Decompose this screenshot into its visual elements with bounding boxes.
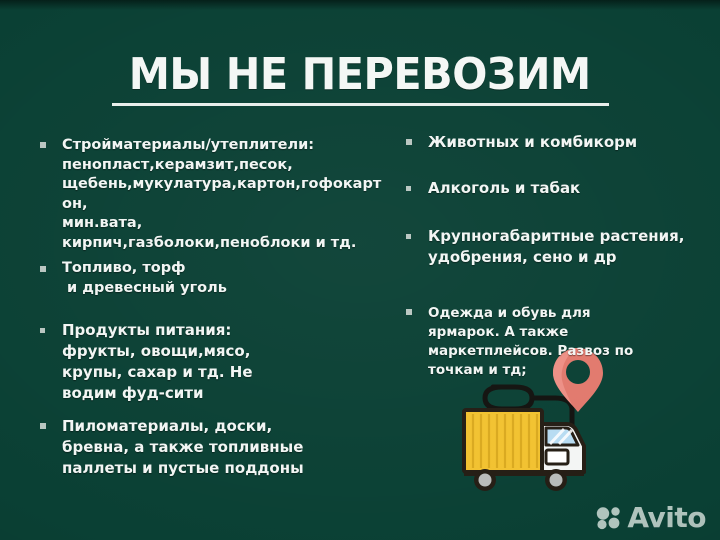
list-item-line: Одежда и обувь для [428,304,702,323]
list-item-line: мин.вата, [62,214,388,234]
left-column: Стройматериалы/утеплители: пенопласт,кер… [36,136,388,479]
square-bullet-icon [40,328,45,333]
list-item-line: маркетплейсов. Развоз по [428,342,702,361]
list-item-line: пенопласт,керамзит,песок, [62,156,388,176]
list-item: Стройматериалы/утеплители: пенопласт,кер… [36,136,388,253]
title-underline [112,103,609,106]
list-item-line: Пиломатериалы, доски, [62,416,388,437]
list-item-line: точкам и тд; [428,361,702,380]
list-item-line: удобрения, сено и др [428,247,702,268]
square-bullet-icon [40,266,46,272]
avito-logo-icon [596,506,622,530]
list-item: Животных и комбикорм [402,132,702,153]
list-item: Алкоголь и табак [402,178,702,199]
list-item: Крупногабаритные растения, удобрения, се… [402,226,702,268]
list-item: Продукты питания: фрукты, овощи,мясо, кр… [36,320,388,404]
list-item: Одежда и обувь для ярмарок. А также марк… [402,304,702,380]
square-bullet-icon [406,234,411,239]
list-item-line: паллеты и пустые поддоны [62,458,388,479]
right-column: Животных и комбикорм Алкоголь и табак Кр… [402,132,702,380]
avito-wordmark: Avito [627,504,706,532]
list-item-line: щебень,мукулатура,картон,гофокарт [62,175,388,195]
list-item-line: фрукты, овощи,мясо, [62,341,388,362]
poster: МЫ НЕ ПЕРЕВОЗИМ Стройматериалы/утеплител… [0,0,720,540]
page-title: МЫ НЕ ПЕРЕВОЗИМ [129,52,591,98]
list-item-line: и древесный уголь [62,279,388,299]
list-item-line: водим фуд-сити [62,383,388,404]
list-item-line: крупы, сахар и тд. Не [62,362,388,383]
square-bullet-icon [406,186,411,191]
page-title-container: МЫ НЕ ПЕРЕВОЗИМ [0,52,720,98]
square-bullet-icon [40,423,46,429]
avito-watermark: Avito [596,504,706,532]
list-item-line: он, [62,195,388,215]
list-item-line: Алкоголь и табак [428,178,702,199]
list-item: Пиломатериалы, доски, бревна, а также то… [36,416,388,479]
list-item-line: Топливо, торф [62,259,388,279]
list-item-line: Продукты питания: [62,320,388,341]
list-item-line: Стройматериалы/утеплители: [62,136,388,156]
list-item-line: бревна, а также топливные [62,437,388,458]
delivery-truck-icon [464,410,584,491]
list-item-line: Животных и комбикорм [428,132,702,153]
square-bullet-icon [40,142,46,148]
list-item-line: Крупногабаритные растения, [428,226,702,247]
list-item-line: кирпич,газболоки,пеноблоки и тд. [62,234,388,254]
square-bullet-icon [406,309,412,315]
list-item: Топливо, торф и древесный уголь [36,259,388,298]
list-item-line: ярмарок. А также [428,323,702,342]
square-bullet-icon [406,139,412,145]
